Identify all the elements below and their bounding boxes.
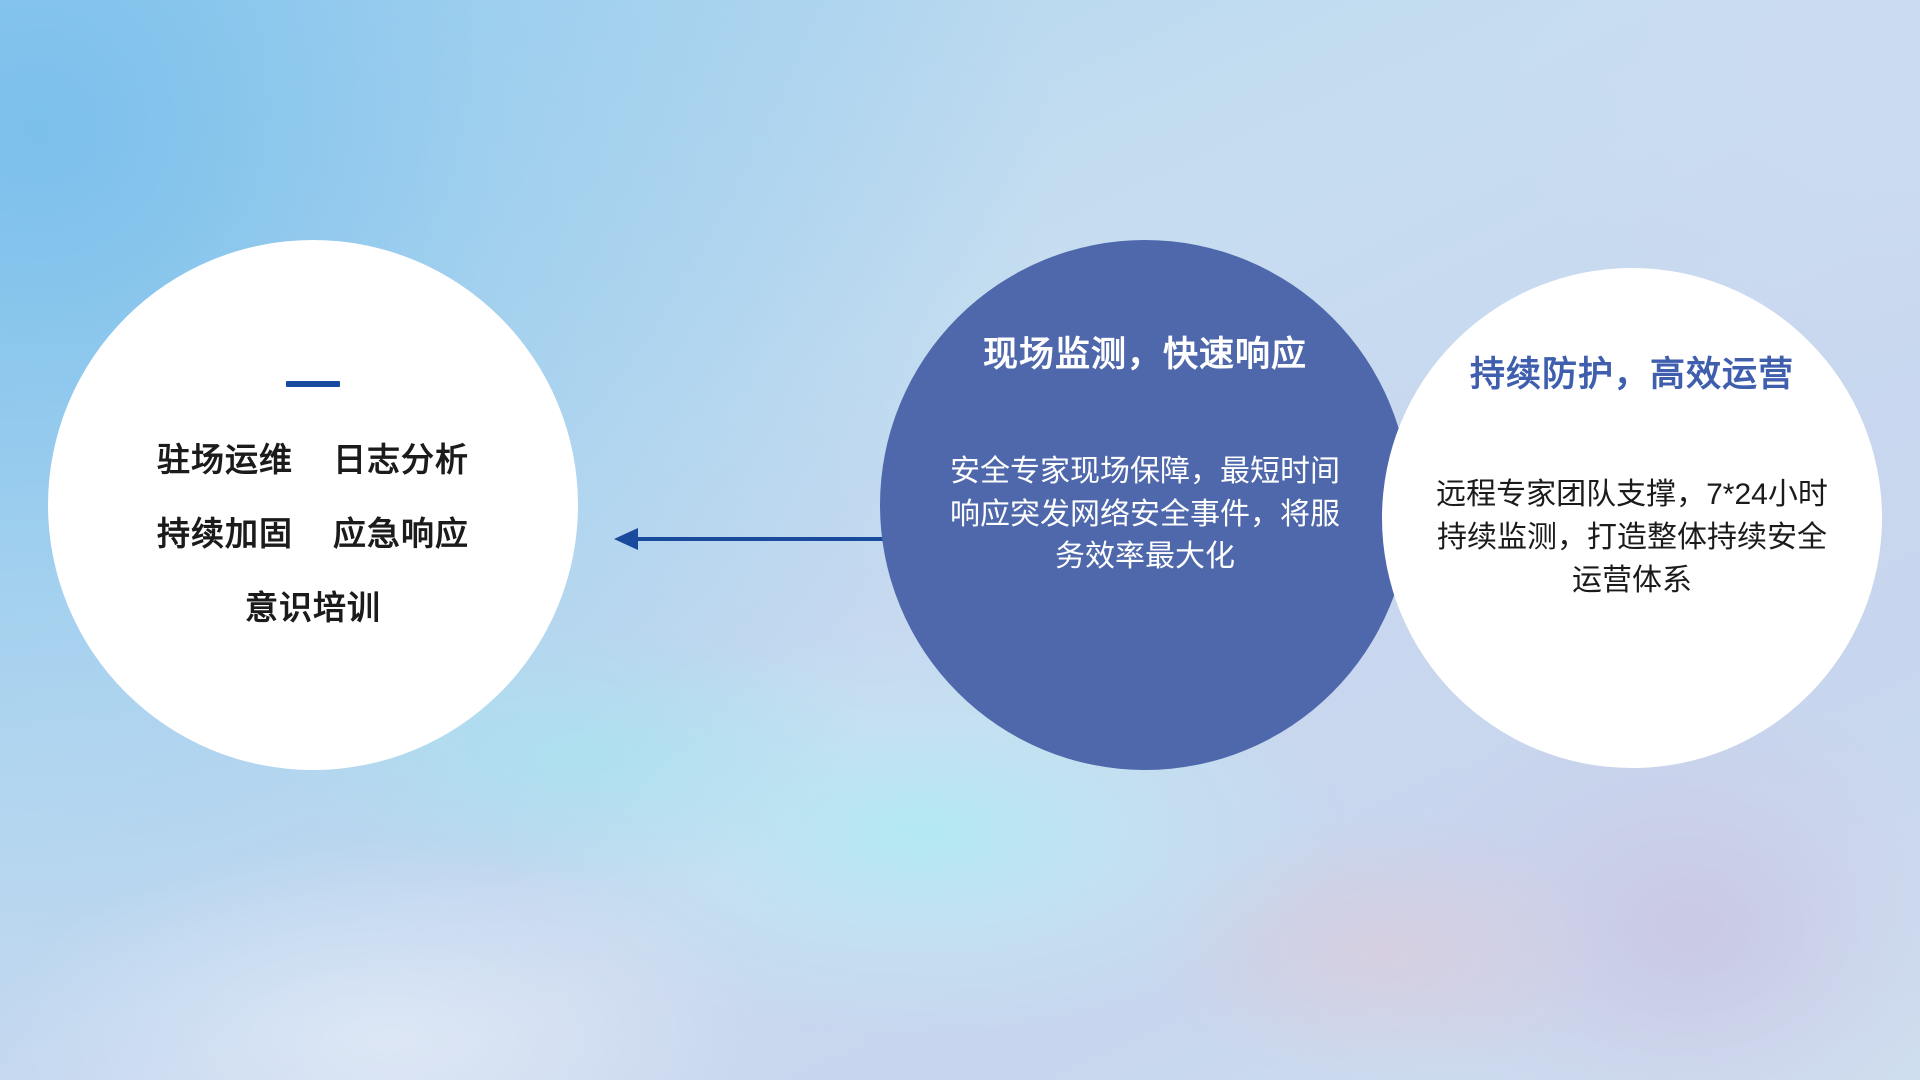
service-keyword: 日志分析 [333,433,469,481]
service-scope-circle[interactable]: 驻场运维 日志分析 持续加固 应急响应 意识培训 [48,240,578,770]
slide-canvas: 驻场运维 日志分析 持续加固 应急响应 意识培训 现场监测，快速响应 安全专家现… [0,0,1920,1080]
service-keyword: 应急响应 [333,507,469,555]
service-keyword: 驻场运维 [157,433,293,481]
service-keyword: 持续加固 [157,507,293,555]
onsite-monitoring-circle[interactable]: 现场监测，快速响应 安全专家现场保障，最短时间响应突发网络安全事件，将服务效率最… [880,240,1410,770]
continuous-protection-circle[interactable]: 持续防护，高效运营 远程专家团队支撑，7*24小时持续监测，打造整体持续安全运营… [1382,268,1882,768]
title-divider-dash [286,381,340,387]
continuous-protection-body: 远程专家团队支撑，7*24小时持续监测，打造整体持续安全运营体系 [1427,473,1837,603]
flow-arrow-icon [612,522,912,556]
onsite-monitoring-title: 现场监测，快速响应 [983,326,1307,377]
onsite-monitoring-body: 安全专家现场保障，最短时间响应突发网络安全事件，将服务效率最大化 [950,451,1340,579]
service-keyword-row-1: 驻场运维 日志分析 [157,433,469,481]
service-keyword-list: 驻场运维 日志分析 持续加固 应急响应 意识培训 [157,433,469,629]
service-keyword: 意识培训 [245,581,381,629]
service-keyword-row-3: 意识培训 [245,581,381,629]
service-keyword-row-2: 持续加固 应急响应 [157,507,469,555]
continuous-protection-title: 持续防护，高效运营 [1470,346,1794,397]
